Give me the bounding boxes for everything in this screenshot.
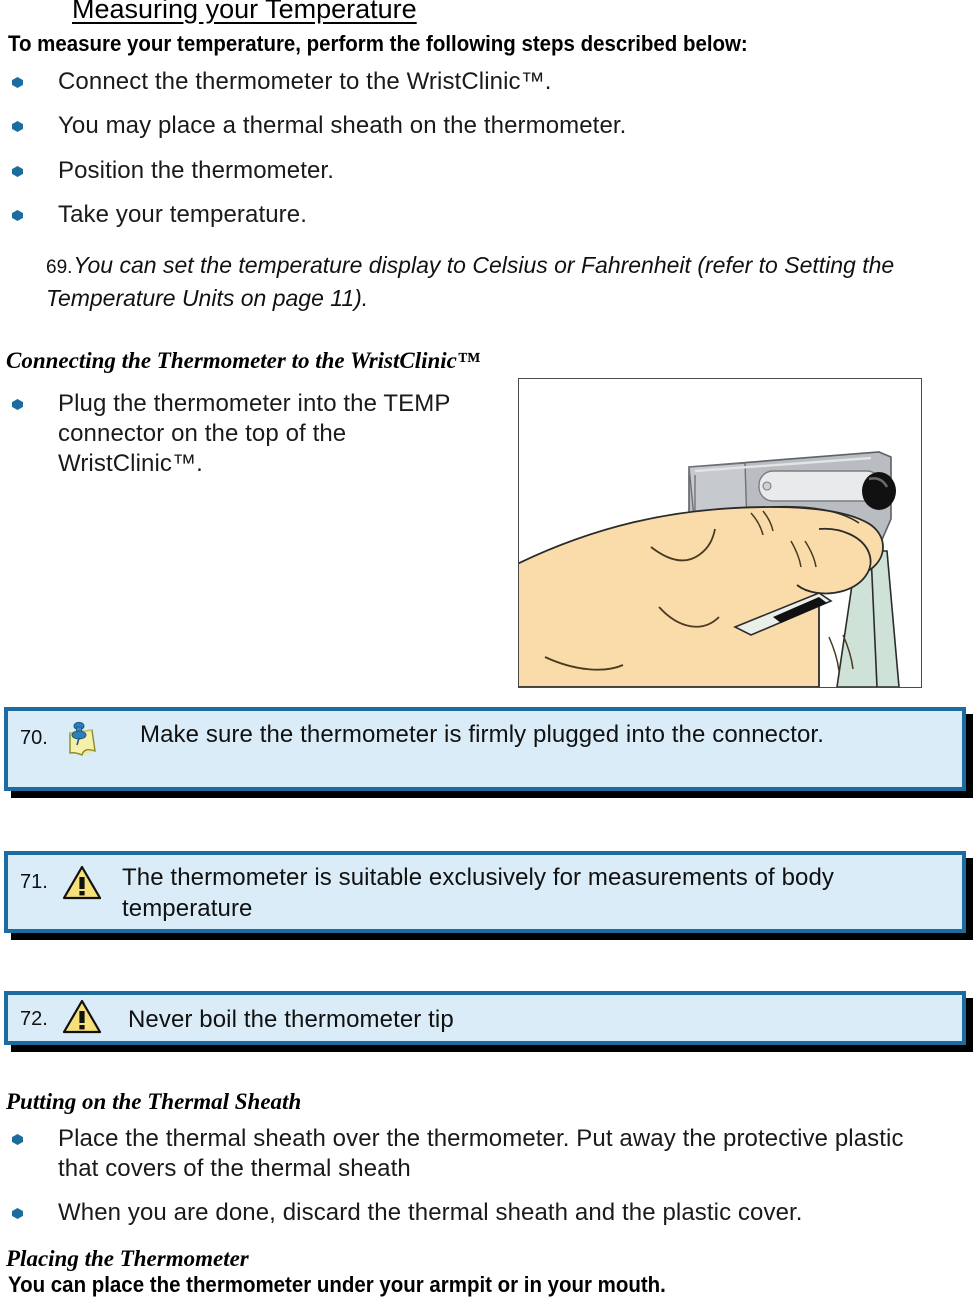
list-item: Place the thermal sheath over the thermo… — [12, 1124, 942, 1184]
bullet-icon — [12, 77, 23, 88]
list-item: Position the thermometer. — [12, 156, 334, 186]
list-item-label: Position the thermometer. — [58, 156, 334, 186]
list-item: You may place a thermal sheath on the th… — [12, 111, 626, 141]
warning-triangle-icon — [62, 865, 106, 906]
section-heading-placing: Placing the Thermometer — [6, 1246, 249, 1272]
warning-triangle-icon — [62, 999, 106, 1040]
warning-callout-number: 71. — [20, 871, 62, 894]
list-item-label: You may place a thermal sheath on the th… — [58, 111, 626, 141]
bullet-icon — [12, 1134, 23, 1145]
note-callout: 70. Make sure the thermometer is firmly … — [4, 707, 966, 791]
section-heading-sheath: Putting on the Thermal Sheath — [6, 1089, 301, 1115]
bullet-icon — [12, 399, 23, 410]
figure-hand-holding-device — [518, 378, 922, 688]
warning-callout-number: 72. — [20, 1008, 62, 1031]
list-item: Take your temperature. — [12, 200, 307, 230]
list-item: Connect the thermometer to the WristClin… — [12, 67, 551, 97]
step-note-number: 69. — [46, 257, 72, 278]
list-item-label: Take your temperature. — [58, 200, 307, 230]
intro-paragraph: To measure your temperature, perform the… — [8, 31, 748, 57]
warning-callout-text: The thermometer is suitable exclusively … — [122, 862, 954, 924]
warning-callout: 72. Never boil the thermometer tip — [4, 991, 966, 1045]
illustration-svg — [519, 379, 921, 687]
bullet-icon — [12, 121, 23, 132]
step-note: 69.You can set the temperature display t… — [46, 250, 979, 314]
step-note-text: You can set the temperature display to C… — [46, 252, 894, 311]
note-pin-icon — [62, 721, 106, 766]
section-heading-connecting: Connecting the Thermometer to the WristC… — [6, 348, 480, 374]
list-item-label: Place the thermal sheath over the thermo… — [58, 1124, 942, 1184]
warning-callout-text: Never boil the thermometer tip — [128, 1004, 454, 1035]
list-item: When you are done, discard the thermal s… — [12, 1198, 972, 1228]
list-item-label: When you are done, discard the thermal s… — [58, 1198, 803, 1228]
bullet-icon — [12, 1208, 23, 1219]
list-item-label: Plug the thermometer into the TEMP conne… — [58, 389, 482, 479]
list-item-label: Connect the thermometer to the WristClin… — [58, 67, 551, 97]
placing-body-text: You can place the thermometer under your… — [8, 1272, 666, 1298]
note-callout-text: Make sure the thermometer is firmly plug… — [140, 719, 824, 750]
page-title: Measuring your Temperature — [72, 0, 417, 25]
list-item: Plug the thermometer into the TEMP conne… — [12, 389, 482, 479]
bullet-icon — [12, 166, 23, 177]
bullet-icon — [12, 210, 23, 221]
document-page: Measuring your Temperature To measure yo… — [0, 0, 979, 1306]
note-callout-number: 70. — [20, 727, 62, 750]
warning-callout: 71. The thermometer is suitable exclusiv… — [4, 851, 966, 933]
